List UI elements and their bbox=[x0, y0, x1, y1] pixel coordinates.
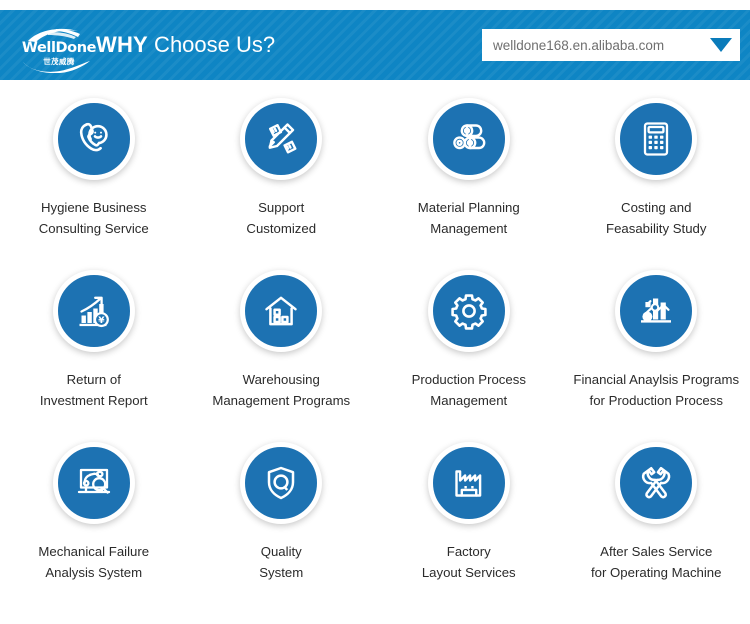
monitor-robot-magnifier-icon bbox=[70, 459, 118, 507]
grid-item-label: Production Process Management bbox=[377, 369, 561, 411]
grid-item-label: Mechanical Failure Analysis System bbox=[2, 541, 186, 583]
header-banner: WellDone 世茂威腾 WHY Choose Us? welldone168… bbox=[0, 10, 750, 80]
website-url-text[interactable]: welldone168.en.alibaba.com bbox=[482, 38, 702, 53]
banner-title-rest: Choose Us? bbox=[148, 32, 275, 57]
label-line-2: Layout Services bbox=[377, 562, 561, 583]
label-line-2: Management Programs bbox=[189, 390, 373, 411]
label-line-2: Management bbox=[377, 390, 561, 411]
icon-badge[interactable] bbox=[240, 442, 322, 524]
icon-badge[interactable] bbox=[615, 98, 697, 180]
label-line-2: for Operating Machine bbox=[564, 562, 748, 583]
logo-underline-swoosh-icon bbox=[22, 61, 92, 73]
grid-item-quality-system[interactable]: Quality System bbox=[188, 432, 376, 604]
grid-item-hygiene-business-consulting-service[interactable]: Hygiene Business Consulting Service bbox=[0, 88, 188, 260]
grid-item-label: Hygiene Business Consulting Service bbox=[2, 197, 186, 239]
label-line-1: After Sales Service bbox=[600, 544, 712, 559]
shield-q-icon bbox=[257, 459, 305, 507]
factory-icon bbox=[445, 459, 493, 507]
calculator-icon bbox=[632, 115, 680, 163]
icon-badge[interactable] bbox=[53, 98, 135, 180]
grid-item-material-planning-management[interactable]: Material Planning Management bbox=[375, 88, 563, 260]
banner-title: WHY Choose Us? bbox=[96, 32, 275, 58]
gear-icon bbox=[445, 287, 493, 335]
icon-badge[interactable] bbox=[240, 98, 322, 180]
grid-item-label: Financial Anaylsis Programs for Producti… bbox=[564, 369, 748, 411]
page-root: WellDone 世茂威腾 WHY Choose Us? welldone168… bbox=[0, 0, 750, 624]
grid-item-financial-anaylsis-programs[interactable]: Financial Anaylsis Programs for Producti… bbox=[563, 260, 750, 432]
brand-logo[interactable]: WellDone 世茂威腾 bbox=[18, 28, 100, 72]
caret-down-icon bbox=[710, 38, 732, 52]
icon-badge[interactable] bbox=[240, 270, 322, 352]
icon-badge[interactable] bbox=[428, 270, 510, 352]
label-line-2: System bbox=[189, 562, 373, 583]
url-dropdown-button[interactable] bbox=[702, 29, 740, 61]
label-line-1: Support bbox=[258, 200, 304, 215]
growth-chart-yuan-icon: ¥ bbox=[70, 287, 118, 335]
icon-badge[interactable] bbox=[53, 442, 135, 524]
services-grid: Hygiene Business Consulting Service bbox=[0, 88, 750, 604]
label-line-1: Hygiene Business bbox=[41, 200, 147, 215]
banner-title-bold: WHY bbox=[96, 32, 148, 57]
label-line-2: Customized bbox=[189, 218, 373, 239]
label-line-2: Feasability Study bbox=[564, 218, 748, 239]
label-line-1: Return of bbox=[67, 372, 121, 387]
label-line-2: Consulting Service bbox=[2, 218, 186, 239]
grid-item-factory-layout-services[interactable]: Factory Layout Services bbox=[375, 432, 563, 604]
grid-item-label: Material Planning Management bbox=[377, 197, 561, 239]
pencil-ruler-icon bbox=[257, 115, 305, 163]
grid-item-label: After Sales Service for Operating Machin… bbox=[564, 541, 748, 583]
icon-badge[interactable] bbox=[615, 270, 697, 352]
grid-item-support-customized[interactable]: Support Customized bbox=[188, 88, 376, 260]
financial-analysis-chart-icon bbox=[632, 287, 680, 335]
grid-item-label: Factory Layout Services bbox=[377, 541, 561, 583]
grid-item-costing-and-feasability-study[interactable]: Costing and Feasability Study bbox=[563, 88, 750, 260]
label-line-1: Production Process bbox=[412, 372, 526, 387]
grid-item-label: Support Customized bbox=[189, 197, 373, 239]
grid-item-production-process-management[interactable]: Production Process Management bbox=[375, 260, 563, 432]
label-line-1: Material Planning bbox=[418, 200, 520, 215]
svg-text:¥: ¥ bbox=[98, 316, 105, 326]
label-line-1: Costing and bbox=[621, 200, 691, 215]
icon-badge[interactable]: ¥ bbox=[53, 270, 135, 352]
grid-item-label: Quality System bbox=[189, 541, 373, 583]
logo-wordmark: WellDone bbox=[18, 41, 100, 56]
phone-smiley-icon bbox=[70, 115, 118, 163]
label-line-2: Analysis System bbox=[2, 562, 186, 583]
warehouse-icon bbox=[257, 287, 305, 335]
grid-item-mechanical-failure-analysis-system[interactable]: Mechanical Failure Analysis System bbox=[0, 432, 188, 604]
website-url-field[interactable]: welldone168.en.alibaba.com bbox=[482, 29, 740, 61]
label-line-1: Quality bbox=[261, 544, 302, 559]
grid-item-return-of-investment-report[interactable]: ¥ Return of Investment Report bbox=[0, 260, 188, 432]
icon-badge[interactable] bbox=[428, 442, 510, 524]
label-line-1: Factory bbox=[447, 544, 491, 559]
material-rolls-icon bbox=[445, 115, 493, 163]
grid-item-label: Return of Investment Report bbox=[2, 369, 186, 411]
label-line-1: Mechanical Failure bbox=[38, 544, 149, 559]
label-line-2: Investment Report bbox=[2, 390, 186, 411]
grid-item-warehousing-management-programs[interactable]: Warehousing Management Programs bbox=[188, 260, 376, 432]
grid-item-after-sales-service[interactable]: After Sales Service for Operating Machin… bbox=[563, 432, 750, 604]
label-line-2: Management bbox=[377, 218, 561, 239]
label-line-2: for Production Process bbox=[564, 390, 748, 411]
wrench-screwdriver-icon bbox=[632, 459, 680, 507]
label-line-1: Financial Anaylsis Programs bbox=[573, 372, 739, 387]
grid-item-label: Costing and Feasability Study bbox=[564, 197, 748, 239]
icon-badge[interactable] bbox=[615, 442, 697, 524]
label-line-1: Warehousing bbox=[243, 372, 320, 387]
grid-item-label: Warehousing Management Programs bbox=[189, 369, 373, 411]
icon-badge[interactable] bbox=[428, 98, 510, 180]
